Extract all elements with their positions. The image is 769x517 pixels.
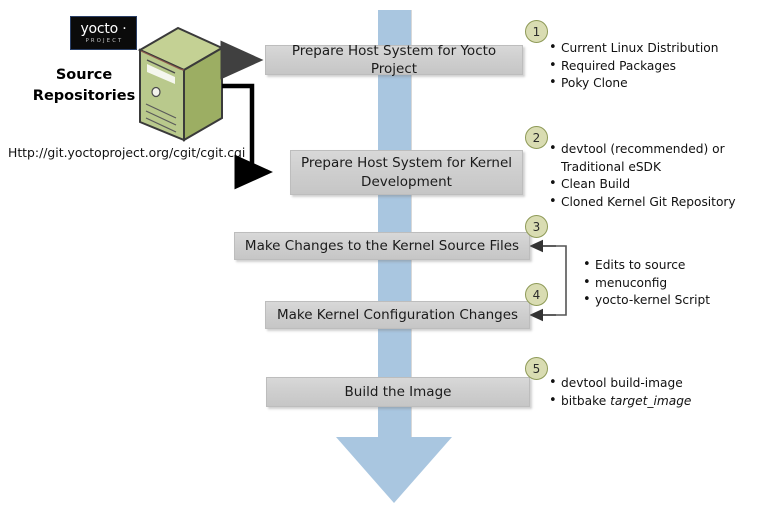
step-box-3[interactable]: Make Changes to the Kernel Source Files: [234, 232, 530, 260]
source-repository-url: Http://git.yoctoproject.org/cgit/cgit.cg…: [8, 145, 245, 160]
list-item: Clean Build: [548, 176, 763, 194]
list-item: Poky Clone: [548, 75, 763, 93]
list-item-text: bitbake: [561, 394, 610, 408]
logo-subtext: PROJECT: [84, 37, 124, 45]
step-box-4-label: Make Kernel Configuration Changes: [277, 306, 518, 324]
step-box-2-label-line1: Prepare Host System for Kernel: [301, 154, 512, 172]
step-number-2-value: 2: [533, 131, 541, 145]
step-number-2: 2: [525, 126, 548, 149]
step-number-5: 5: [525, 357, 548, 380]
list-item: devtool (recommended) or: [548, 141, 763, 159]
step-box-5-label: Build the Image: [345, 383, 452, 401]
step-box-2[interactable]: Prepare Host System for Kernel Developme…: [290, 150, 523, 195]
step-number-1: 1: [525, 20, 548, 43]
yocto-project-logo: yocto · PROJECT: [70, 16, 137, 50]
step-5-notes: devtool build-image bitbake target_image: [548, 375, 763, 410]
list-item: Cloned Kernel Git Repository: [548, 194, 763, 212]
step-box-2-label-line2: Development: [361, 173, 452, 191]
source-repositories-label: Source Repositories: [14, 65, 154, 107]
list-item: devtool build-image: [548, 375, 763, 393]
step-1-notes: Current Linux Distribution Required Pack…: [548, 40, 763, 93]
step-number-3: 3: [525, 215, 548, 238]
logo-wordmark: yocto ·: [80, 22, 126, 36]
list-item: Required Packages: [548, 58, 763, 76]
step-number-4: 4: [525, 283, 548, 306]
step-number-4-value: 4: [533, 288, 541, 302]
step-box-4[interactable]: Make Kernel Configuration Changes: [265, 301, 530, 329]
list-item-emphasis: target_image: [610, 394, 691, 408]
flow-arrow-head: [336, 437, 452, 503]
step-number-3-value: 3: [533, 220, 541, 234]
list-item: Current Linux Distribution: [548, 40, 763, 58]
step-box-1-label: Prepare Host System for Yocto Project: [274, 42, 514, 78]
step-number-1-value: 1: [533, 25, 541, 39]
step-2-notes: devtool (recommended) or Traditional eSD…: [548, 141, 763, 211]
step-box-3-label: Make Changes to the Kernel Source Files: [245, 237, 519, 255]
list-item: menuconfig: [582, 275, 762, 293]
list-item: yocto-kernel Script: [582, 292, 762, 310]
list-item: bitbake target_image: [548, 393, 763, 411]
list-item: Edits to source: [582, 257, 762, 275]
server-tower-icon: [134, 26, 226, 144]
source-label-line2: Repositories: [14, 86, 154, 107]
step-box-1[interactable]: Prepare Host System for Yocto Project: [265, 45, 523, 75]
list-item-continuation: Traditional eSDK: [548, 159, 763, 177]
source-label-line1: Source: [14, 65, 154, 86]
diagram-canvas: yocto · PROJECT Source Repositories Http…: [0, 0, 769, 517]
steps-34-notes: Edits to source menuconfig yocto-kernel …: [582, 257, 762, 310]
step-box-5[interactable]: Build the Image: [266, 377, 530, 407]
step-number-5-value: 5: [533, 362, 541, 376]
connector-bracket-steps34: [540, 246, 566, 315]
